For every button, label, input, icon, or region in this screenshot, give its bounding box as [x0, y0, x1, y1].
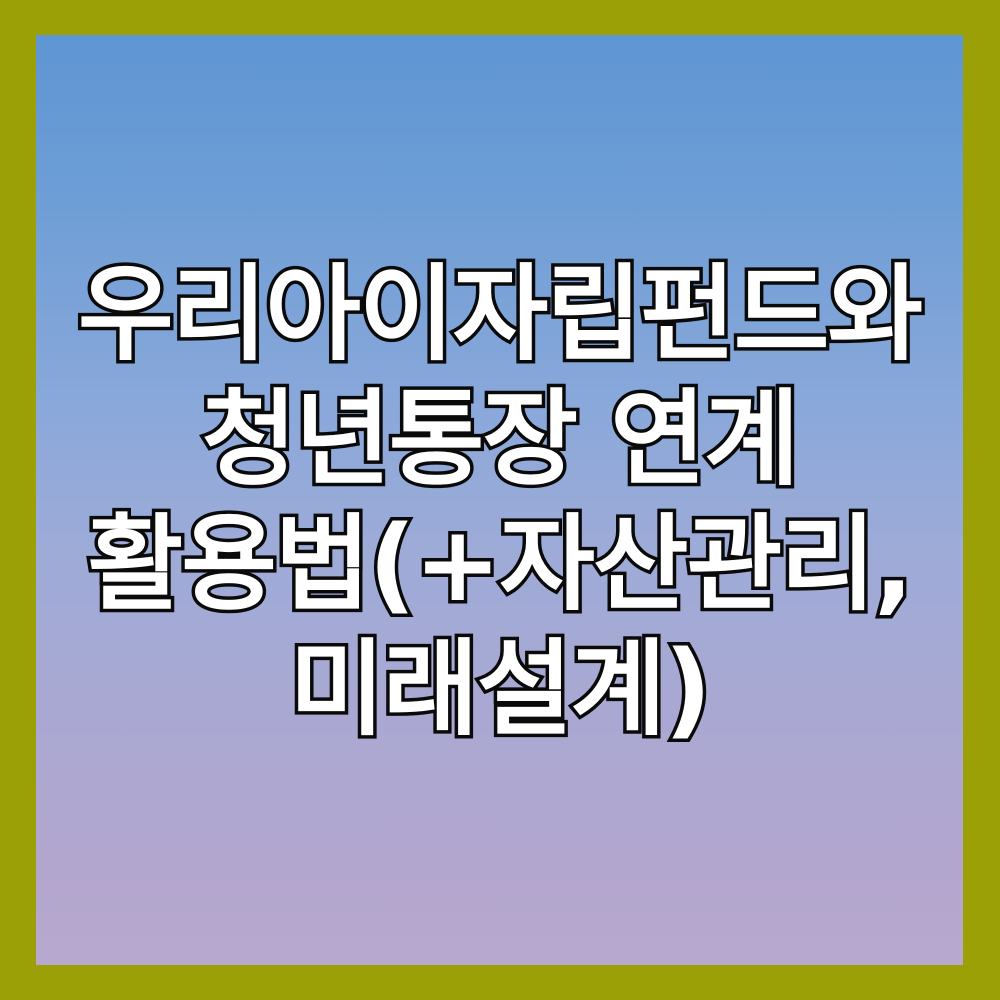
headline-line-3: 활용법(+자산관리,: [36, 502, 963, 627]
headline-line-4: 미래설계): [36, 627, 963, 752]
thumbnail-canvas: 우리아이자립펀드와 청년통장 연계 활용법(+자산관리, 미래설계): [0, 0, 1000, 1000]
headline-line-1: 우리아이자립펀드와: [36, 252, 963, 377]
gradient-background-panel: 우리아이자립펀드와 청년통장 연계 활용법(+자산관리, 미래설계): [36, 35, 963, 965]
headline-text-block: 우리아이자립펀드와 청년통장 연계 활용법(+자산관리, 미래설계): [36, 35, 963, 965]
headline-line-2: 청년통장 연계: [36, 377, 963, 502]
